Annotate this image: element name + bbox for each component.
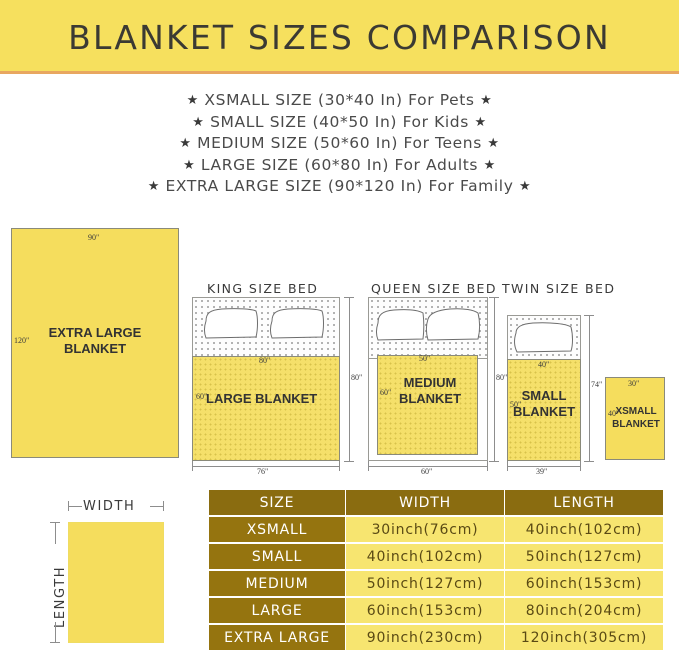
king-height-tick-top (344, 297, 354, 298)
queen-width-tick-left (368, 461, 369, 471)
twin-blanket-top-dimension: 40" (538, 360, 549, 369)
bullet-text: SMALL SIZE (40*50 In) For Kids (210, 113, 469, 131)
width-rule (68, 506, 82, 507)
row-width-cell: 50inch(127cm) (346, 571, 504, 596)
row-width-cell: 30inch(76cm) (346, 517, 504, 542)
bullet-item: ★ XSMALL SIZE (30*40 In) For Pets ★ (0, 90, 679, 112)
extra-large-blanket-label: EXTRA LARGE BLANKET (11, 325, 179, 357)
star-icon: ★ (487, 136, 499, 151)
star-icon: ★ (519, 179, 531, 194)
bullet-text: MEDIUM SIZE (50*60 In) For Teens (197, 134, 482, 152)
page-title: BLANKET SIZES COMPARISON (0, 18, 679, 57)
length-rule-top (55, 522, 56, 544)
twin-width-tick-right (580, 461, 581, 471)
king-width-tick-right (339, 461, 340, 471)
length-label: LENGTH (53, 566, 68, 628)
queen-height-rule (494, 297, 495, 461)
table-row: SMALL 40inch(102cm) 50inch(127cm) (209, 544, 663, 569)
twin-height-dimension: 74" (591, 380, 602, 389)
bullet-item: ★ EXTRA LARGE SIZE (90*120 In) For Famil… (0, 176, 679, 198)
table-row: EXTRA LARGE 90inch(230cm) 120inch(305cm) (209, 625, 663, 650)
width-label: WIDTH (83, 499, 135, 514)
star-icon: ★ (187, 93, 199, 108)
queen-width-tick-right (487, 461, 488, 471)
row-size-label: EXTRA LARGE (209, 625, 345, 650)
row-length-cell: 40inch(102cm) (505, 517, 663, 542)
small-label-line1: SMALL (522, 388, 567, 403)
star-icon: ★ (192, 115, 204, 130)
twin-width-dimension: 39" (536, 467, 547, 476)
bullet-text: EXTRA LARGE SIZE (90*120 In) For Family (166, 177, 514, 195)
bullet-item: ★ SMALL SIZE (40*50 In) For Kids ★ (0, 112, 679, 134)
xsmall-blanket-label: XSMALL BLANKET (605, 405, 667, 431)
king-height-dimension: 80" (351, 373, 362, 382)
twin-height-tick-bottom (584, 461, 594, 462)
width-tick-right (163, 501, 164, 511)
medium-label-line1: MEDIUM (404, 375, 457, 390)
twin-width-tick-left (507, 461, 508, 471)
length-rule-bottom (55, 622, 56, 643)
small-blanket-label: SMALL BLANKET (507, 388, 581, 420)
queen-bed-name: QUEEN SIZE BED (371, 281, 497, 296)
bullet-item: ★ MEDIUM SIZE (50*60 In) For Teens ★ (0, 133, 679, 155)
row-length-cell: 120inch(305cm) (505, 625, 663, 650)
star-icon: ★ (480, 93, 492, 108)
table-header-row: SIZE WIDTH LENGTH (209, 490, 663, 515)
header-banner: BLANKET SIZES COMPARISON (0, 0, 679, 74)
extra-large-top-dimension: 90" (88, 233, 99, 242)
width-tick-left (68, 501, 69, 511)
infographic-canvas: BLANKET SIZES COMPARISON ★ XSMALL SIZE (… (0, 0, 679, 667)
medium-label-line2: BLANKET (399, 391, 461, 406)
xsmall-top-dimension: 30" (628, 379, 639, 388)
queen-blanket-top-dimension: 50" (419, 354, 430, 363)
star-icon: ★ (148, 179, 160, 194)
king-bed-name: KING SIZE BED (207, 281, 318, 296)
king-pillows (192, 297, 340, 359)
row-size-label: LARGE (209, 598, 345, 623)
medium-blanket-label: MEDIUM BLANKET (382, 375, 478, 407)
king-height-rule (349, 297, 350, 461)
star-icon: ★ (474, 115, 486, 130)
twin-pillow (507, 315, 581, 360)
row-size-label: XSMALL (209, 517, 345, 542)
row-width-cell: 90inch(230cm) (346, 625, 504, 650)
table-row: MEDIUM 50inch(127cm) 60inch(153cm) (209, 571, 663, 596)
king-blanket-top-dimension: 80" (259, 356, 270, 365)
row-width-cell: 60inch(153cm) (346, 598, 504, 623)
bullet-text: LARGE SIZE (60*80 In) For Adults (201, 156, 478, 174)
large-blanket-label: LARGE BLANKET (206, 391, 340, 407)
length-tick-bottom (50, 642, 60, 643)
king-height-tick-bottom (344, 461, 354, 462)
extra-large-label-line1: EXTRA LARGE (49, 325, 142, 340)
star-icon: ★ (183, 158, 195, 173)
row-length-cell: 50inch(127cm) (505, 544, 663, 569)
width-rule-right (150, 506, 164, 507)
queen-width-dimension: 60" (421, 467, 432, 476)
twin-height-rule (589, 315, 590, 461)
twin-bed-name: TWIN SIZE BED (502, 281, 615, 296)
queen-height-tick-bottom (489, 461, 499, 462)
queen-height-tick-top (489, 297, 499, 298)
row-size-label: SMALL (209, 544, 345, 569)
row-width-cell: 40inch(102cm) (346, 544, 504, 569)
row-length-cell: 80inch(204cm) (505, 598, 663, 623)
table-row: LARGE 60inch(153cm) 80inch(204cm) (209, 598, 663, 623)
length-tick-top (50, 522, 60, 523)
table-header-length: LENGTH (505, 490, 663, 515)
extra-large-label-line2: BLANKET (64, 341, 126, 356)
bullet-text: XSMALL SIZE (30*40 In) For Pets (204, 91, 474, 109)
small-label-line2: BLANKET (513, 404, 575, 419)
king-width-tick-left (192, 461, 193, 471)
star-icon: ★ (484, 158, 496, 173)
queen-pillows (368, 297, 488, 359)
width-length-box (68, 522, 164, 643)
queen-height-dimension: 80" (496, 373, 507, 382)
size-table: SIZE WIDTH LENGTH XSMALL 30inch(76cm) 40… (208, 488, 664, 652)
xsmall-label-line1: XSMALL (615, 406, 656, 417)
row-size-label: MEDIUM (209, 571, 345, 596)
king-width-dimension: 76" (257, 467, 268, 476)
star-icon: ★ (179, 136, 191, 151)
twin-height-tick-top (584, 315, 594, 316)
table-header-width: WIDTH (346, 490, 504, 515)
large-blanket-shape (192, 356, 340, 461)
xsmall-label-line2: BLANKET (612, 419, 660, 430)
size-bullet-list: ★ XSMALL SIZE (30*40 In) For Pets ★ ★ SM… (0, 90, 679, 198)
table-header-size: SIZE (209, 490, 345, 515)
table-row: XSMALL 30inch(76cm) 40inch(102cm) (209, 517, 663, 542)
bullet-item: ★ LARGE SIZE (60*80 In) For Adults ★ (0, 155, 679, 177)
row-length-cell: 60inch(153cm) (505, 571, 663, 596)
